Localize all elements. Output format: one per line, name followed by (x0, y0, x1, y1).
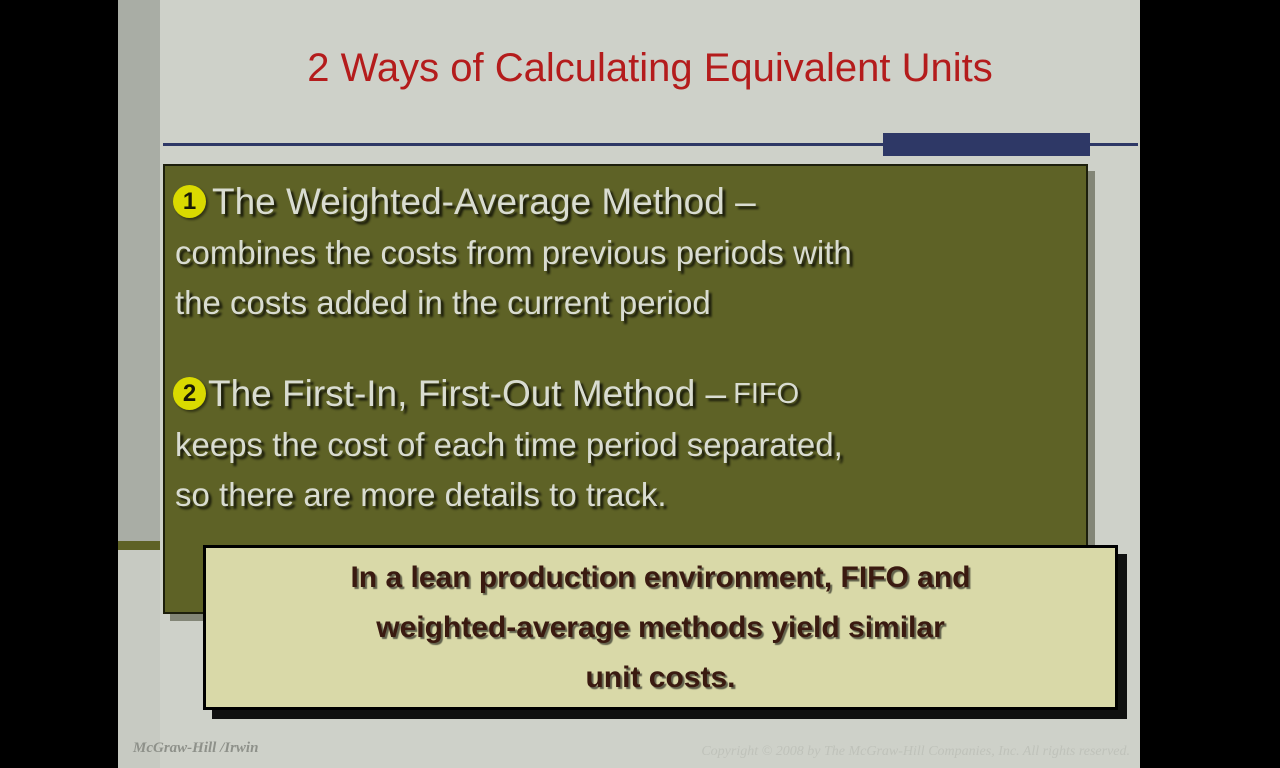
bullet-1-body-line-2: the costs added in the current period (175, 278, 1078, 328)
callout-box: In a lean production environment, FIFO a… (203, 545, 1118, 710)
bullet-item-2: 2 The First-In, First-Out Method – FIFO … (173, 368, 1078, 520)
decorative-left-band (118, 0, 160, 546)
slide-canvas: 2 Ways of Calculating Equivalent Units 1… (118, 0, 1140, 768)
title-divider-block (883, 133, 1090, 156)
bullet-2-heading: The First-In, First-Out Method – (208, 368, 726, 420)
slide-title: 2 Ways of Calculating Equivalent Units (160, 44, 1140, 92)
bullet-2-body-line-2: so there are more details to track. (175, 470, 1078, 520)
bullet-1-heading-row: 1 The Weighted-Average Method – (173, 176, 1078, 228)
callout-line-2: weighted-average methods yield similar (206, 603, 1115, 653)
slide-stage: 2 Ways of Calculating Equivalent Units 1… (0, 0, 1280, 768)
bullet-2-body-line-1: keeps the cost of each time period separ… (175, 420, 1078, 470)
footer-brand: McGraw-Hill /Irwin (133, 740, 258, 757)
bullet-1-body-line-1: combines the costs from previous periods… (175, 228, 1078, 278)
bullet-2-heading-suffix: FIFO (726, 368, 799, 420)
bullet-2-number-icon: 2 (173, 377, 206, 410)
bullet-1-body: combines the costs from previous periods… (173, 228, 1078, 328)
footer-copyright: Copyright © 2008 by The McGraw-Hill Comp… (701, 744, 1130, 760)
callout-line-1: In a lean production environment, FIFO a… (206, 553, 1115, 603)
callout-line-3: unit costs. (206, 653, 1115, 703)
bullet-1-heading: The Weighted-Average Method – (212, 176, 756, 228)
bullet-2-heading-row: 2 The First-In, First-Out Method – FIFO (173, 368, 1078, 420)
callout-text: In a lean production environment, FIFO a… (206, 553, 1115, 703)
bullet-2-body: keeps the cost of each time period separ… (173, 420, 1078, 520)
decorative-left-band-cap (118, 541, 160, 550)
bullet-item-1: 1 The Weighted-Average Method – combines… (173, 176, 1078, 328)
bullet-1-number-icon: 1 (173, 185, 206, 218)
